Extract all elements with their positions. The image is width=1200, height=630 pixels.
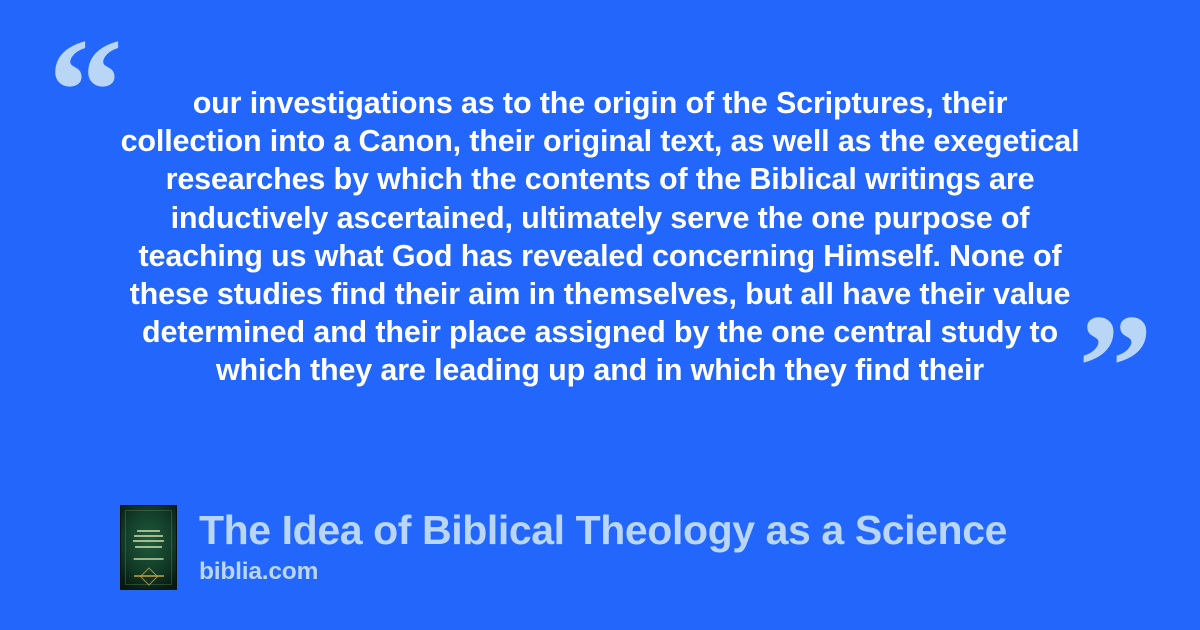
footer-text-block: The Idea of Biblical Theology as a Scien… [199, 505, 1007, 587]
opening-quote-icon: “ [48, 16, 121, 166]
book-cover-author-line [133, 558, 164, 560]
quote-text: our investigations as to the origin of t… [120, 84, 1080, 390]
closing-quote-icon: ” [1078, 292, 1151, 442]
quote-card: “ our investigations as to the origin of… [0, 0, 1200, 630]
site-name: biblia.com [199, 557, 1007, 587]
book-cover-ornament-bar [134, 575, 164, 577]
book-cover-title-lines [130, 530, 167, 548]
book-cover-icon [120, 505, 177, 590]
footer-attribution: The Idea of Biblical Theology as a Scien… [120, 505, 1007, 590]
book-title: The Idea of Biblical Theology as a Scien… [199, 506, 1007, 555]
